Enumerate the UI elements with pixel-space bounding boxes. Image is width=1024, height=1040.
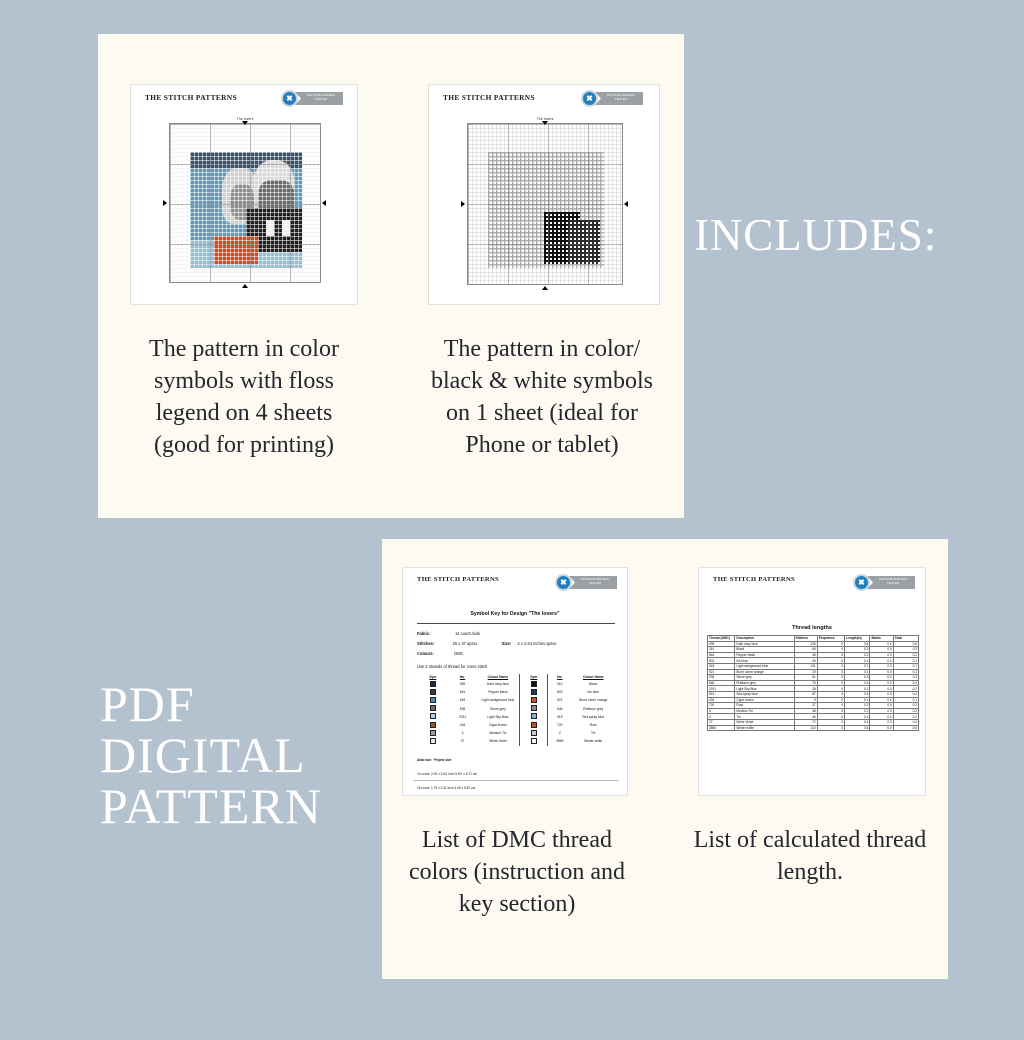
table-row: 939Dark navy blue12500.60.00.6 <box>708 641 919 647</box>
cell-no-left: 434 <box>449 721 477 729</box>
caption-color-symbols: The pattern in color symbols with floss … <box>130 333 358 462</box>
table-row: 844Pepper black4600.20.00.2 <box>708 652 919 658</box>
cell-no-right: 519 <box>548 713 572 721</box>
preview-sheet-color-chart[interactable]: THE STITCH PATTERNS PATTERN MAKERS TESTE… <box>130 84 358 305</box>
chart-marker-top <box>242 121 248 125</box>
cell-name-right: Sea spray blue <box>571 713 615 721</box>
table-row: 720Rust3700.20.00.2 <box>708 703 919 709</box>
chart-marker-left <box>163 200 167 206</box>
brand-title: THE STITCH PATTERNS <box>443 93 535 102</box>
cell-no-right: 3865 <box>548 737 572 745</box>
table-row: 803Ink blue2600.10.00.1 <box>708 658 919 664</box>
pdf-line-3: PATTERN <box>100 781 322 832</box>
cell-sym-left <box>417 729 449 737</box>
table-row: 921Burnt ochre orange1900.10.00.1 <box>708 669 919 675</box>
table-row: 3Medium Tin4800.20.00.2 <box>708 708 919 714</box>
table-row: 434Cigar brown900.10.00.1 <box>708 697 919 703</box>
cell-no-left: 535 <box>449 705 477 713</box>
badge-ribbon-text: PATTERN MAKERS TESTED <box>301 93 341 101</box>
table-row: 535Stone grey5100.30.00.3 <box>708 675 919 681</box>
table-row: 3761Light Sky Blue519Sea spray blue <box>417 713 615 721</box>
cross-stitch-chart-color: The lovers <box>159 117 331 297</box>
brand-title: THE STITCH PATTERNS <box>713 576 795 583</box>
cell-thread: 3865 <box>708 725 735 731</box>
badge-seal-icon: ✖ <box>581 90 598 107</box>
chart-marker-right <box>322 200 326 206</box>
includes-heading: INCLUDES: <box>694 213 937 259</box>
divider <box>417 623 615 624</box>
cell-name-right: Winter white <box>571 737 615 745</box>
cell-description: Winter white <box>735 725 794 731</box>
brand-title: THE STITCH PATTERNS <box>417 576 499 583</box>
cell-sym-right <box>520 721 548 729</box>
cell-name-right: Burnt ochre orange <box>571 696 615 704</box>
cell-no-right: 646 <box>548 705 572 713</box>
cell-name-left: Stone grey <box>476 705 520 713</box>
cell-backs: 0.0 <box>870 725 893 731</box>
chart-marker-left <box>461 201 465 207</box>
cell-no-left: 3761 <box>449 713 477 721</box>
table-row: 27White Violet7200.40.00.4 <box>708 719 919 725</box>
divider-footer <box>413 780 619 781</box>
table-row: 519Sea spray blue8700.40.00.4 <box>708 691 919 697</box>
sheet-header: THE STITCH PATTERNS PATTERN MAKERS TESTE… <box>403 568 627 594</box>
cell-total: 0.6 <box>893 725 918 731</box>
cell-name-left: Pepper black <box>476 688 520 696</box>
badge-seal-icon: ✖ <box>281 90 298 107</box>
cell-name-left: Light wedgewood blue <box>476 696 520 704</box>
poster-canvas: INCLUDES: PDF DIGITAL PATTERN The patter… <box>0 0 1024 1040</box>
sheet-header: THE STITCH PATTERNS PATTERN MAKERS TESTE… <box>429 85 659 111</box>
chart-marker-top <box>542 121 548 125</box>
strands-note: Use 2 strands of thread for cross stitch <box>417 664 487 669</box>
cell-name-left: Cigar brown <box>476 721 520 729</box>
cell-sym-left <box>417 705 449 713</box>
chart-grid <box>169 123 321 283</box>
table-row: 310Black6600.30.00.3 <box>708 647 919 653</box>
cell-no-right: 2 <box>548 729 572 737</box>
chart-grid <box>467 123 623 285</box>
pdf-line-2: DIGITAL <box>100 730 322 781</box>
tested-badge: PATTERN MAKERS TESTED ✖ <box>853 574 915 591</box>
sheet-header: THE STITCH PATTERNS PATTERN MAKERS TESTE… <box>699 568 925 594</box>
table-row: 518Light wedgewood blue13100.70.00.7 <box>708 663 919 669</box>
cell-length: 0.6 <box>845 725 870 731</box>
symbol-key-title: Symbol Key for Design "The lovers" <box>403 611 627 617</box>
caption-dmc-list: List of DMC thread colors (instruction a… <box>408 824 626 920</box>
cell-sym-right <box>520 696 548 704</box>
cell-sym-left <box>417 688 449 696</box>
cell-name-left: Medium Tin <box>476 729 520 737</box>
cell-sym-left <box>417 713 449 721</box>
cell-sym-right <box>520 713 548 721</box>
preview-sheet-bw-chart[interactable]: THE STITCH PATTERNS PATTERN MAKERS TESTE… <box>428 84 660 305</box>
badge-ribbon-text: PATTERN MAKERS TESTED <box>601 93 641 101</box>
cell-sym-left <box>417 721 449 729</box>
brand-title: THE STITCH PATTERNS <box>145 93 237 102</box>
cell-no-right: 921 <box>548 696 572 704</box>
cell-sym-left <box>417 680 449 688</box>
chart-marker-bottom <box>242 284 248 288</box>
cell-sym-right <box>520 729 548 737</box>
badge-seal-icon: ✖ <box>555 574 572 591</box>
table-row: 535Stone grey646Platinum grey <box>417 705 615 713</box>
cell-no-left: 518 <box>449 696 477 704</box>
cell-sym-right <box>520 737 548 745</box>
cell-name-left: Dark navy blue <box>476 680 520 688</box>
tested-badge: PATTERN MAKERS TESTED ✖ <box>281 90 343 107</box>
table-row: 3Medium Tin2Tin <box>417 729 615 737</box>
preview-sheet-thread-lengths[interactable]: THE STITCH PATTERNS PATTERN MAKERS TESTE… <box>698 567 926 796</box>
pdf-line-1: PDF <box>100 679 322 730</box>
tested-badge: PATTERN MAKERS TESTED ✖ <box>581 90 643 107</box>
cell-pequenies: 0 <box>817 725 844 731</box>
thread-lengths-table: Thread (DMC) Description Stitches Pequen… <box>707 635 919 731</box>
cell-name-left: White Violet <box>476 737 520 745</box>
cell-no-left: 3 <box>449 729 477 737</box>
pdf-digital-pattern-heading: PDF DIGITAL PATTERN <box>100 679 322 832</box>
sheet-header: THE STITCH PATTERNS PATTERN MAKERS TESTE… <box>131 85 357 111</box>
cell-name-right: Tin <box>571 729 615 737</box>
table-row: 646Platinum grey7600.40.00.4 <box>708 680 919 686</box>
tested-badge: PATTERN MAKERS TESTED ✖ <box>555 574 617 591</box>
table-row: 434Cigar brown720Rust <box>417 721 615 729</box>
cell-no-right: 803 <box>548 688 572 696</box>
cell-no-right: 310 <box>548 680 572 688</box>
cell-name-right: Black <box>571 680 615 688</box>
thread-lengths-title: Thread lengths <box>699 625 925 631</box>
preview-sheet-symbol-key[interactable]: THE STITCH PATTERNS PATTERN MAKERS TESTE… <box>402 567 628 796</box>
cell-sym-right <box>520 705 548 713</box>
badge-seal-icon: ✖ <box>853 574 870 591</box>
caption-thread-length: List of calculated thread length. <box>690 824 930 888</box>
table-row: 2Tin3600.20.00.2 <box>708 714 919 720</box>
cell-no-right: 720 <box>548 721 572 729</box>
chart-marker-right <box>624 201 628 207</box>
cell-sym-left <box>417 696 449 704</box>
table-row: 844Pepper black803Ink blue <box>417 688 615 696</box>
table-row: 939Dark navy blue310Black <box>417 680 615 688</box>
aida-size-block: Aida size: Project size 14 count: 2.00 x… <box>417 748 477 796</box>
cell-sym-right <box>520 688 548 696</box>
field-colours: Colours: DMC <box>417 651 463 656</box>
cross-stitch-chart-bw: The lovers <box>457 117 633 299</box>
table-row: 3865Winter white11000.60.00.6 <box>708 725 919 731</box>
table-row: 518Light wedgewood blue921Burnt ochre or… <box>417 696 615 704</box>
symbol-key-table: Sym No. Colour Name Sym No. Colour Name … <box>417 674 615 746</box>
cell-name-right: Rust <box>571 721 615 729</box>
field-fabric: Fabric: 14 count Aida <box>417 631 480 636</box>
cell-no-left: 939 <box>449 680 477 688</box>
cell-sym-left <box>417 737 449 745</box>
table-row: 27White Violet3865Winter white <box>417 737 615 745</box>
cell-name-left: Light Sky Blue <box>476 713 520 721</box>
cell-no-left: 27 <box>449 737 477 745</box>
table-row: 3761Light Sky Blue3800.20.00.2 <box>708 686 919 692</box>
cell-name-right: Ink blue <box>571 688 615 696</box>
chart-marker-bottom <box>542 286 548 290</box>
badge-ribbon-text: PATTERN MAKERS TESTED <box>575 577 615 585</box>
cell-stitches: 110 <box>794 725 817 731</box>
cell-name-right: Platinum grey <box>571 705 615 713</box>
field-stitches: Stitches: 26 x 37 aprox Size: 2 x 2.64 i… <box>417 641 556 646</box>
cell-no-left: 844 <box>449 688 477 696</box>
cell-sym-right <box>520 680 548 688</box>
caption-bw-symbols: The pattern in color/ black & white symb… <box>424 333 660 462</box>
badge-ribbon-text: PATTERN MAKERS TESTED <box>873 577 913 585</box>
